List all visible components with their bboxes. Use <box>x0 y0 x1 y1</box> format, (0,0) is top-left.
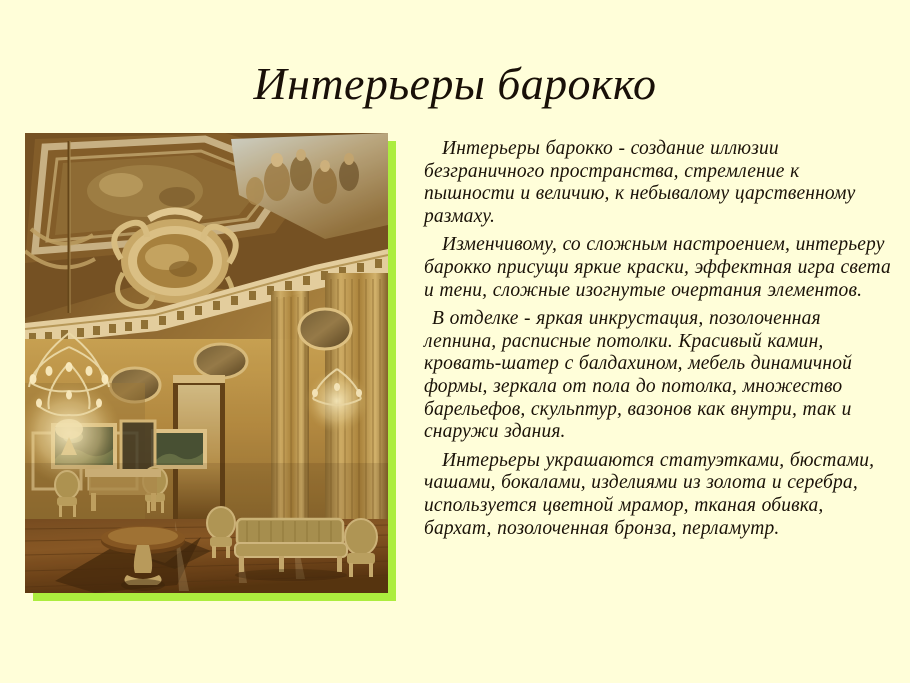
picture-frame <box>25 133 388 593</box>
paragraph-1: Интерьеры барокко - создание иллюзии без… <box>424 138 892 228</box>
presentation-slide: Интерьеры барокко <box>0 0 910 683</box>
baroque-interior-photo <box>25 133 388 593</box>
paragraph-2: Изменчивому, со сложным настроением, инт… <box>424 234 892 302</box>
paragraph-4: Интерьеры украшаются статуэтками, бюстам… <box>424 450 892 540</box>
page-title: Интерьеры барокко <box>0 57 910 111</box>
body-text-block: Интерьеры барокко - создание иллюзии без… <box>424 138 892 540</box>
paragraph-3: В отделке - яркая инкрустация, позолочен… <box>424 308 892 444</box>
